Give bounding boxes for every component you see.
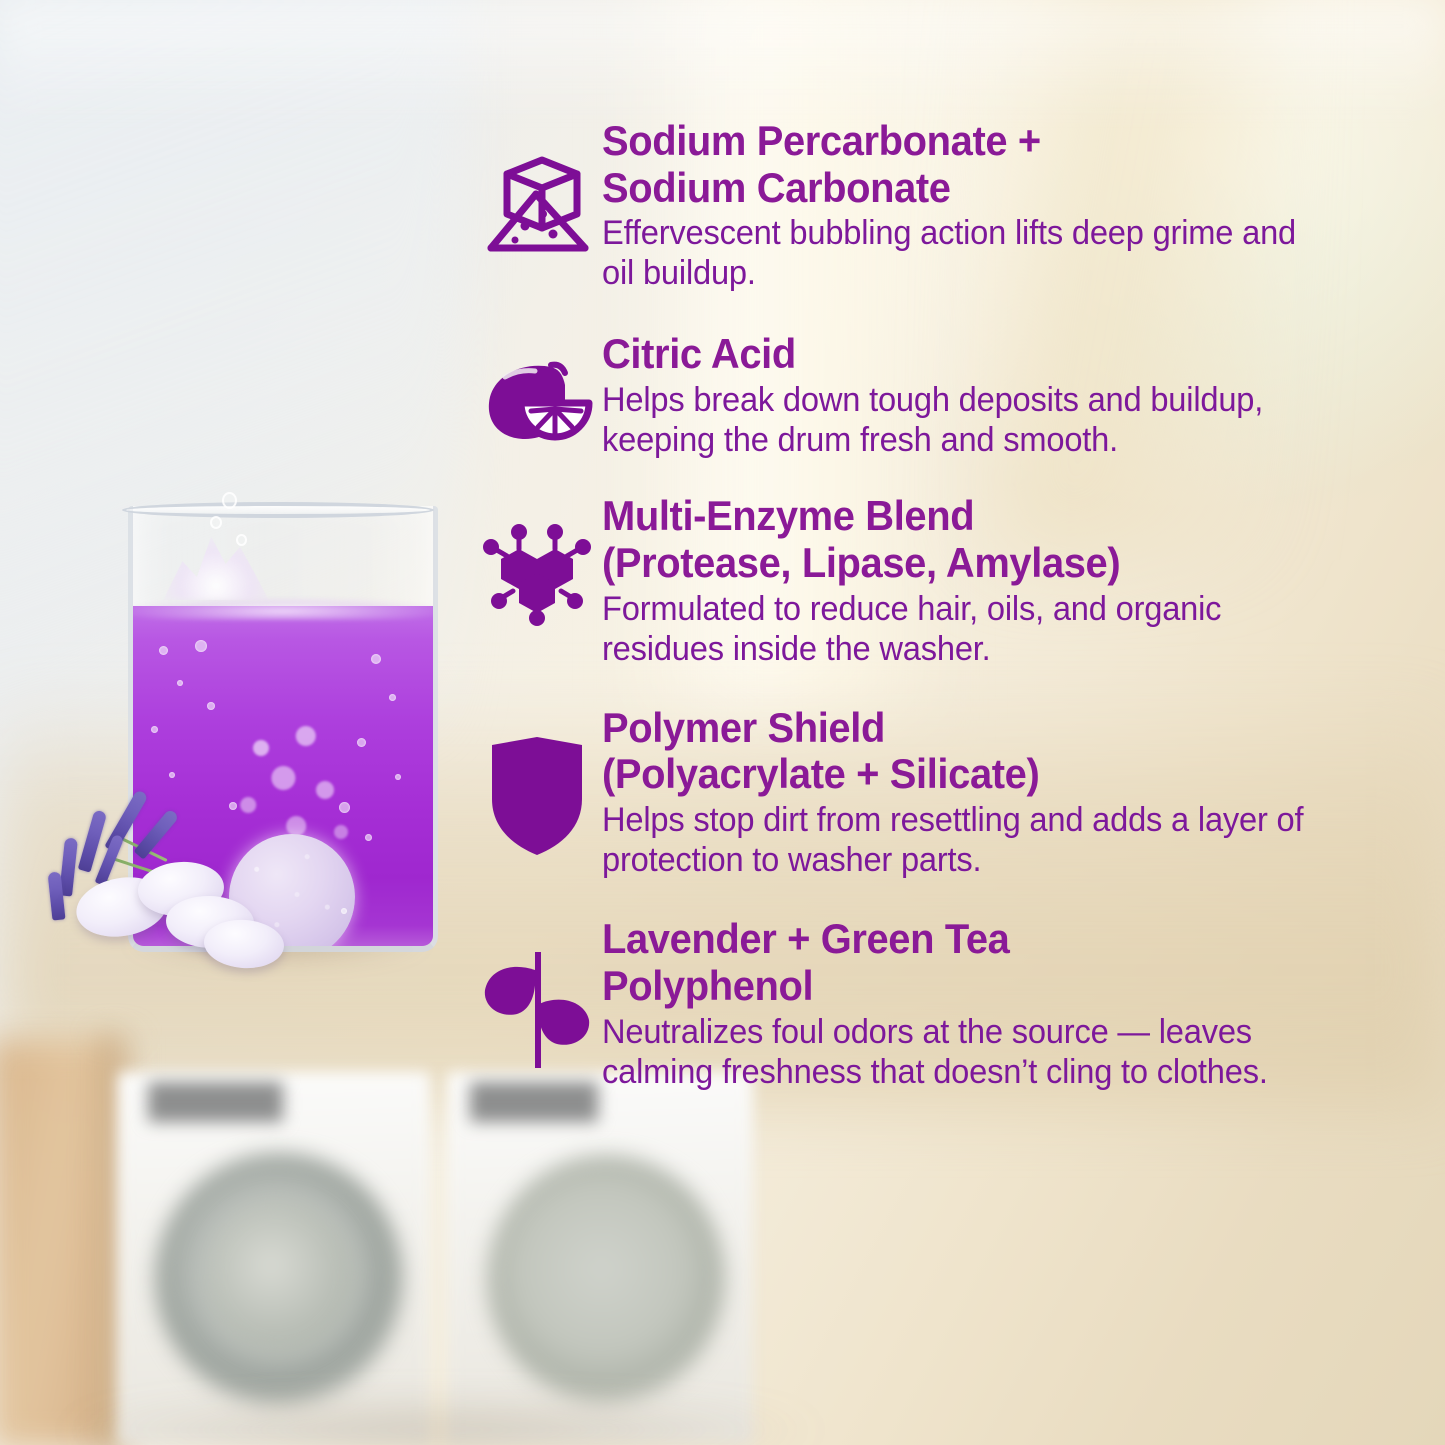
splash-droplet — [210, 516, 222, 529]
feature-description: Helps break down tough deposits and buil… — [602, 380, 1328, 460]
washing-machine-right-door — [487, 1155, 725, 1403]
product-image — [60, 480, 460, 1000]
beaker-rim — [122, 502, 434, 518]
washing-machine-shadow — [60, 1400, 820, 1445]
molecule-icon — [478, 493, 596, 631]
feature-item: Citric Acid Helps break down tough depos… — [478, 331, 1358, 463]
feature-title: Sodium Percarbonate + Sodium Carbonate — [602, 118, 1320, 211]
lemon-citrus-icon — [478, 331, 596, 463]
washing-machine-left-panel — [148, 1082, 283, 1122]
leaf-sprout-icon — [478, 916, 596, 1072]
feature-item: Polymer Shield (Polyacrylate + Silicate)… — [478, 705, 1358, 880]
infographic-canvas: Sodium Percarbonate + Sodium Carbonate E… — [0, 0, 1445, 1445]
feature-description: Neutralizes foul odors at the source — l… — [602, 1012, 1328, 1092]
powder-cube-icon — [478, 118, 596, 260]
feature-title: Citric Acid — [602, 331, 1320, 378]
feature-item: Lavender + Green Tea Polyphenol Neutrali… — [478, 916, 1358, 1091]
feature-item: Sodium Percarbonate + Sodium Carbonate E… — [478, 118, 1358, 293]
feature-description: Formulated to reduce hair, oils, and org… — [602, 589, 1328, 669]
splash-droplet — [236, 534, 247, 546]
feature-description: Helps stop dirt from resettling and adds… — [602, 800, 1328, 880]
feature-title: Lavender + Green Tea Polyphenol — [602, 916, 1320, 1009]
liquid-surface — [129, 598, 437, 620]
ingredient-feature-list: Sodium Percarbonate + Sodium Carbonate E… — [478, 118, 1358, 1114]
splash-droplet — [222, 492, 237, 509]
background-ceiling — [0, 0, 1445, 120]
feature-title: Multi-Enzyme Blend (Protease, Lipase, Am… — [602, 493, 1320, 586]
feature-description: Effervescent bubbling action lifts deep … — [602, 213, 1328, 293]
feature-item: Multi-Enzyme Blend (Protease, Lipase, Am… — [478, 493, 1358, 668]
shield-icon — [478, 705, 596, 857]
feature-title: Polymer Shield (Polyacrylate + Silicate) — [602, 705, 1320, 798]
washing-machine-left-drum — [205, 1200, 355, 1355]
